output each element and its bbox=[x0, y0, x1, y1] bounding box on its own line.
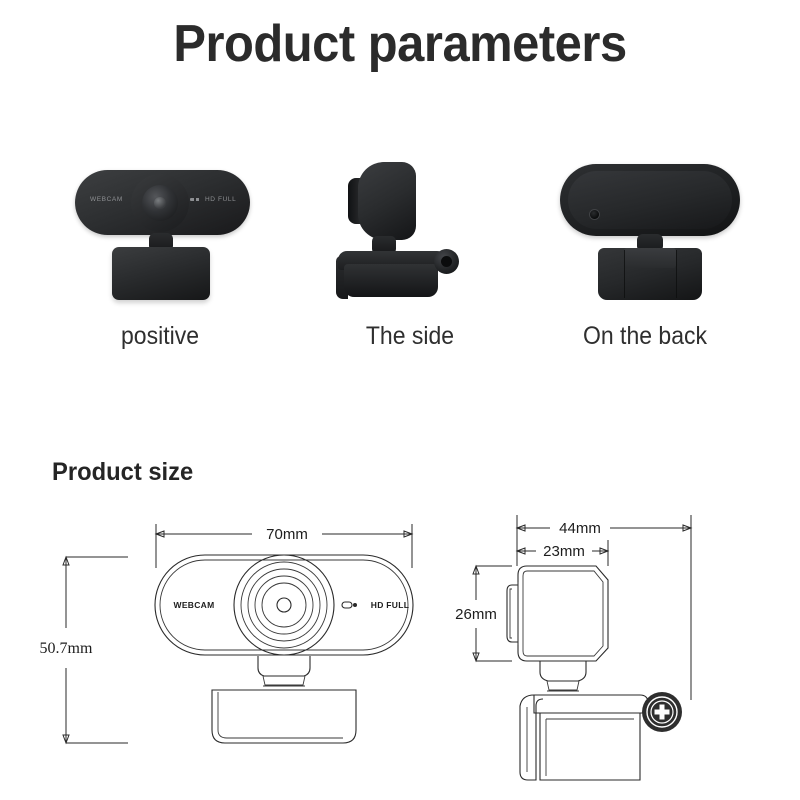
product-views-row: WEBCAM HD FULL positive bbox=[0, 150, 800, 360]
dimension-label-inner-width: 23mm bbox=[543, 543, 585, 560]
side-technical-drawing: 44mm 23mm bbox=[455, 515, 691, 780]
microphone-hole-icon bbox=[590, 210, 599, 219]
status-indicator-icon bbox=[190, 198, 200, 201]
product-size-heading: Product size bbox=[52, 458, 193, 487]
front-outline-base-inner bbox=[218, 692, 343, 738]
product-parameters-page: Product parameters WEBCAM HD FULL positi… bbox=[0, 0, 800, 800]
front-outline-neck bbox=[258, 656, 310, 686]
front-view-caption: positive bbox=[40, 322, 279, 351]
webcam-clip-body-side bbox=[344, 264, 438, 297]
dimension-height-26mm: 26mm bbox=[455, 566, 512, 661]
webcam-head-side bbox=[358, 162, 416, 240]
dimension-height-50-7mm: 50.7mm bbox=[40, 557, 128, 743]
front-outline-indicator-icon bbox=[342, 602, 357, 608]
dimension-label-height: 50.7mm bbox=[40, 640, 93, 657]
side-outline-neck bbox=[540, 661, 586, 691]
dimension-label-width: 70mm bbox=[266, 526, 308, 543]
camera-lens-aperture bbox=[154, 197, 166, 209]
dimension-label-side-height: 26mm bbox=[455, 606, 497, 623]
front-outline-hd-label: HD FULL bbox=[371, 600, 409, 610]
front-outline-lens bbox=[234, 555, 334, 655]
product-size-drawings: 70mm 50.7mm bbox=[0, 500, 800, 790]
side-view-image bbox=[300, 150, 520, 320]
webcam-hinge-seam-left bbox=[624, 250, 625, 298]
back-view-caption: On the back bbox=[530, 322, 760, 351]
side-outline-clip-body bbox=[540, 713, 640, 780]
technical-drawing-svg: 70mm 50.7mm bbox=[0, 500, 800, 790]
product-view-back: On the back bbox=[520, 150, 770, 360]
dimension-label-outer-width: 44mm bbox=[559, 520, 601, 537]
side-outline-clip-arm bbox=[534, 695, 648, 713]
front-outline-base bbox=[212, 690, 356, 743]
front-view-image: WEBCAM HD FULL bbox=[30, 150, 290, 320]
screw-head-center bbox=[441, 256, 452, 267]
back-view-image bbox=[520, 150, 770, 320]
webcam-hd-label: HD FULL bbox=[205, 196, 236, 203]
webcam-brand-label: WEBCAM bbox=[90, 196, 123, 203]
page-title: Product parameters bbox=[24, 14, 776, 74]
side-view-caption: The side bbox=[309, 322, 511, 351]
webcam-body-back-panel bbox=[568, 171, 732, 229]
side-outline-screw-head-icon bbox=[642, 692, 682, 732]
dimension-inner-width-23mm: 23mm bbox=[517, 540, 608, 566]
side-outline-head bbox=[507, 566, 608, 661]
webcam-hinge-band-back bbox=[624, 248, 676, 268]
front-technical-drawing: 70mm 50.7mm bbox=[40, 524, 413, 743]
product-view-front: WEBCAM HD FULL positive bbox=[30, 150, 290, 360]
webcam-hinge-seam-right bbox=[676, 250, 677, 298]
front-outline-brand-label: WEBCAM bbox=[174, 600, 215, 610]
webcam-base-front bbox=[112, 247, 210, 300]
product-view-side: The side bbox=[300, 150, 520, 360]
